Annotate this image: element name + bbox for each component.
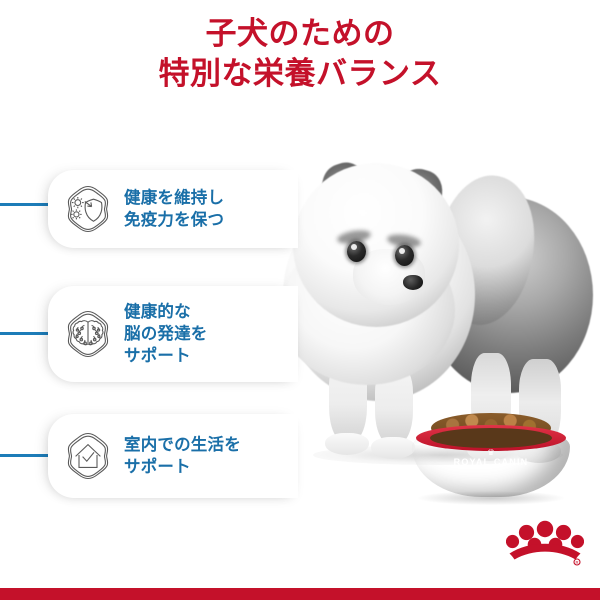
title-line-2: 特別な栄養バランス [0,54,600,94]
connector-line-3 [0,454,52,457]
connector-line-1 [0,203,52,206]
connector-line-2 [0,332,52,335]
shield-immunity-icon [62,183,114,235]
feature-label-indoor: 室内での生活を サポート [124,434,241,478]
feature-label-brain: 健康的な 脳の発達を サポート [124,301,208,367]
title-line-1: 子犬のための [0,14,600,54]
house-check-icon [62,430,114,482]
bowl-brand-label: ROYAL CANIN [412,457,570,467]
puppy-nose [403,275,423,290]
promo-banner: 子犬のための 特別な栄養バランス [0,0,600,600]
royal-canin-crown-logo: R [506,518,584,574]
puppy-photo: ♛ ROYAL CANIN [275,145,600,510]
feature-label-immunity: 健康を維持し 免疫力を保つ [124,187,224,231]
bowl-crown-icon: ♛ [412,448,570,457]
page-title: 子犬のための 特別な栄養バランス [0,14,600,93]
svg-text:R: R [575,560,578,565]
feature-card-indoor[interactable]: 室内での生活を サポート [48,414,298,498]
brain-icon [62,308,114,360]
puppy-eye-left [347,241,366,262]
feature-card-brain[interactable]: 健康的な 脳の発達を サポート [48,286,298,382]
puppy-paw-1 [325,433,369,455]
food-bowl: ♛ ROYAL CANIN [412,413,570,499]
bottom-accent-bar [0,588,600,600]
feature-card-immunity[interactable]: 健康を維持し 免疫力を保つ [48,170,298,248]
bowl-interior [430,428,552,448]
puppy-eye-right [395,245,414,266]
puppy-paw-2 [371,437,415,459]
